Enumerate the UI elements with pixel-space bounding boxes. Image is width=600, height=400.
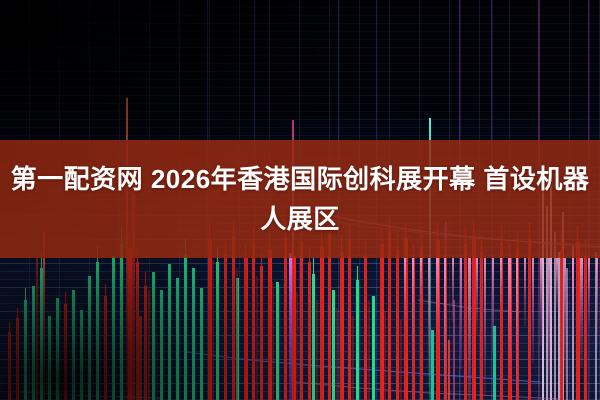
headline-overlay-band: 第一配资网 2026年香港国际创科展开幕 首设机器人展区 [0,140,600,258]
thumbnail-canvas: 第一配资网 2026年香港国际创科展开幕 首设机器人展区 [0,0,600,400]
headline-title: 第一配资网 2026年香港国际创科展开幕 首设机器人展区 [10,159,590,239]
